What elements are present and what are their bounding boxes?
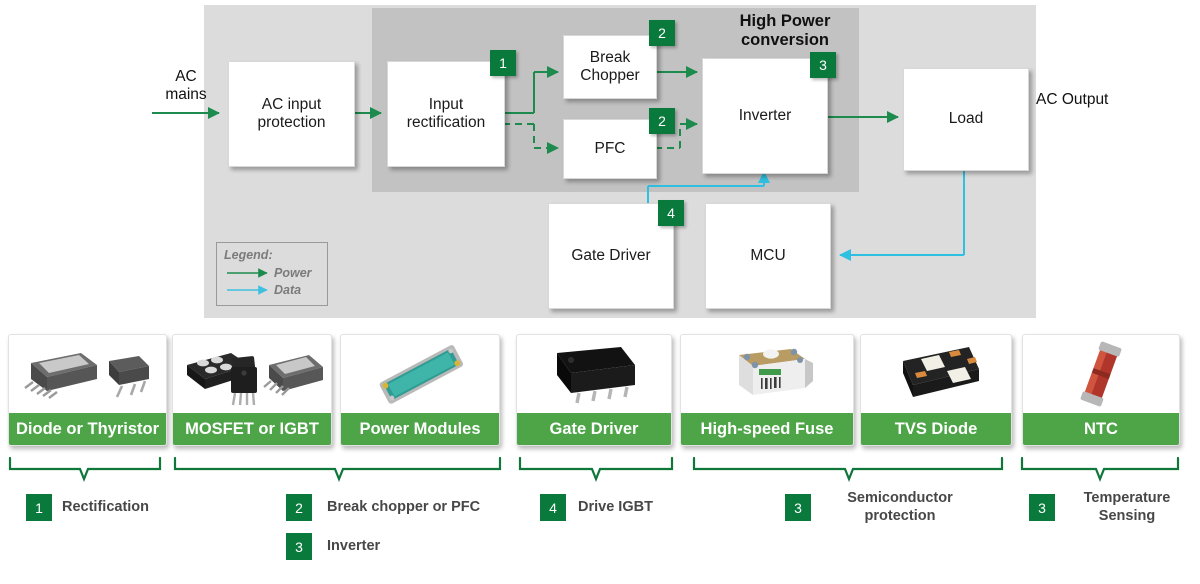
card-mosfet-or-igbt[interactable]: MOSFET or IGBT	[172, 334, 332, 446]
block-gate-driver[interactable]: Gate Driver	[548, 203, 674, 309]
group-badge-temperature-sensing: 3	[1029, 494, 1055, 521]
badge-input-rectification: 1	[490, 50, 516, 76]
block-ac-input-protection[interactable]: AC input protection	[228, 61, 355, 167]
badge-gate-driver: 4	[658, 200, 684, 226]
block-break-chopper[interactable]: Break Chopper	[563, 35, 657, 99]
power-modules-icon	[341, 335, 499, 413]
card-power-modules[interactable]: Power Modules	[340, 334, 500, 446]
panel-title-line2: conversion	[700, 31, 870, 50]
panel-title: High Power conversion	[700, 12, 870, 50]
group-badge-drive-igbt: 4	[540, 494, 566, 521]
card-label: High-speed Fuse	[681, 413, 853, 445]
block-load[interactable]: Load	[903, 68, 1029, 171]
group-label-break-chopper-or-pfc: Break chopper or PFC	[327, 498, 537, 516]
card-tvs-diode[interactable]: TVS Diode	[860, 334, 1012, 446]
card-high-speed-fuse[interactable]: High-speed Fuse	[680, 334, 854, 446]
ntc-icon	[1023, 335, 1179, 413]
card-label: Diode or Thyristor	[9, 413, 166, 445]
ac-mains-line1: AC	[152, 68, 220, 86]
card-ntc[interactable]: NTC	[1022, 334, 1180, 446]
group-badge-rectification: 1	[26, 494, 52, 521]
group-braces	[0, 455, 1200, 490]
card-gate-driver[interactable]: Gate Driver	[516, 334, 672, 446]
panel-title-line1: High Power	[700, 12, 870, 31]
mosfet-or-igbt-icon	[173, 335, 331, 413]
block-label-line1: Load	[949, 110, 983, 128]
block-label-line1: MCU	[750, 247, 785, 265]
block-pfc[interactable]: PFC	[563, 119, 657, 179]
group-label-line2: protection	[820, 507, 980, 525]
block-label-line1: Input	[407, 96, 485, 114]
group-label-line1: Drive IGBT	[578, 498, 718, 516]
block-label-line1: Gate Driver	[571, 247, 650, 265]
block-label-line1: Inverter	[739, 107, 792, 125]
ac-mains-label: AC mains	[152, 68, 220, 105]
group-label-rectification: Rectification	[62, 498, 202, 516]
block-label-line1: AC input	[257, 96, 325, 114]
badge-inverter: 3	[810, 52, 836, 78]
block-label-line2: Chopper	[580, 67, 639, 85]
block-label-line1: Break	[580, 49, 639, 67]
group-label-line1: Break chopper or PFC	[327, 498, 537, 516]
legend-swatches	[217, 243, 327, 305]
high-speed-fuse-icon	[681, 335, 853, 413]
ac-output-label: AC Output	[1036, 91, 1166, 109]
group-label-temperature-sensing: Temperature Sensing	[1062, 489, 1192, 525]
card-label: Power Modules	[341, 413, 499, 445]
block-label-line2: rectification	[407, 114, 485, 132]
group-badge-break-chopper-or-pfc: 2	[286, 494, 312, 521]
card-label: TVS Diode	[861, 413, 1011, 445]
group-label-inverter: Inverter	[327, 537, 467, 555]
group-label-semiconductor-protection: Semiconductor protection	[820, 489, 980, 525]
legend: Legend: Power Data	[216, 242, 328, 306]
block-input-rectification[interactable]: Input rectification	[387, 61, 505, 167]
block-label-line2: protection	[257, 114, 325, 132]
power-conversion-block-diagram: High Power conversion AC mains AC Output…	[0, 0, 1200, 320]
gate-driver-icon	[517, 335, 671, 413]
tvs-diode-icon	[861, 335, 1011, 413]
ac-mains-line2: mains	[152, 86, 220, 104]
group-label-line1: Temperature	[1062, 489, 1192, 507]
group-label-line1: Rectification	[62, 498, 202, 516]
badge-break-chopper: 2	[649, 20, 675, 46]
block-mcu[interactable]: MCU	[705, 203, 831, 309]
group-label-line1: Inverter	[327, 537, 467, 555]
diode-or-thyristor-icon	[9, 335, 166, 413]
group-label-line2: Sensing	[1062, 507, 1192, 525]
group-label-line1: Semiconductor	[820, 489, 980, 507]
block-label-line1: PFC	[595, 140, 626, 158]
group-badge-inverter: 3	[286, 533, 312, 560]
card-label: Gate Driver	[517, 413, 671, 445]
group-label-drive-igbt: Drive IGBT	[578, 498, 718, 516]
group-badge-semiconductor-protection: 3	[785, 494, 811, 521]
card-diode-or-thyristor[interactable]: Diode or Thyristor	[8, 334, 167, 446]
card-label: MOSFET or IGBT	[173, 413, 331, 445]
badge-pfc: 2	[649, 108, 675, 134]
card-label: NTC	[1023, 413, 1179, 445]
